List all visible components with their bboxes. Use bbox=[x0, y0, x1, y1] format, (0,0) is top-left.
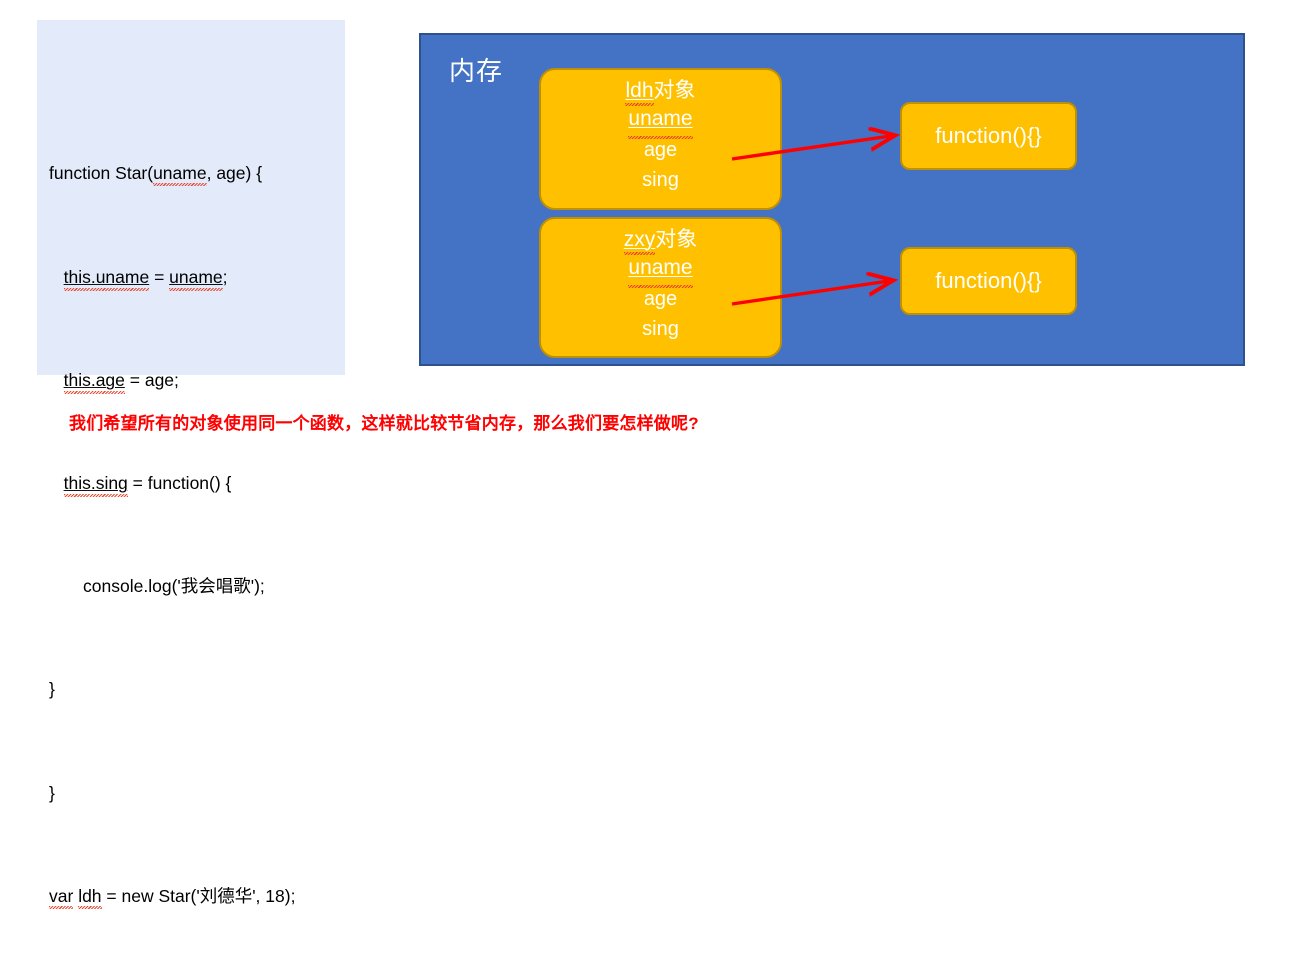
code-indent bbox=[49, 473, 64, 493]
object-field-row: sing bbox=[541, 314, 780, 344]
function-box-label: function(){} bbox=[935, 268, 1041, 294]
code-line-2: this.uname = uname; bbox=[49, 265, 298, 291]
object-field-row: uname bbox=[541, 252, 780, 284]
code-token-misspelled: this.age bbox=[64, 370, 125, 390]
code-indent bbox=[49, 576, 83, 596]
code-token: function Star( bbox=[49, 163, 153, 183]
function-box-1: function(){} bbox=[900, 102, 1077, 170]
code-token-misspelled: uname bbox=[153, 163, 207, 183]
object-field-row: uname bbox=[541, 103, 780, 135]
code-line-4: this.sing = function() { bbox=[49, 471, 298, 497]
code-indent bbox=[49, 370, 64, 390]
object-field-sing: sing bbox=[642, 165, 679, 195]
object-title-suffix: 对象 bbox=[655, 228, 697, 251]
object-field-uname: uname bbox=[628, 103, 692, 135]
object-title-prefix: ldh bbox=[625, 79, 653, 102]
code-token: ; bbox=[223, 267, 228, 287]
code-line-1: function Star(uname, age) { bbox=[49, 161, 298, 187]
code-line-7: } bbox=[49, 781, 298, 807]
object-box-ldh: ldh对象 uname age sing bbox=[539, 68, 782, 210]
function-box-2: function(){} bbox=[900, 247, 1077, 315]
code-token-misspelled: var bbox=[49, 886, 73, 906]
code-token: = age; bbox=[125, 370, 179, 390]
object-field-row: age bbox=[541, 284, 780, 314]
object-title-zxy: zxy对象 bbox=[624, 228, 698, 252]
memory-diagram: 内存 ldh对象 uname age sing zxy对象 uname age … bbox=[419, 33, 1245, 366]
code-indent bbox=[49, 267, 64, 287]
caption-text: 我们希望所有的对象使用同一个函数，这样就比较节省内存，那么我们要怎样做呢? bbox=[69, 409, 699, 434]
object-field-row: sing bbox=[541, 165, 780, 195]
object-field-uname: uname bbox=[628, 252, 692, 284]
code-token-misspelled: this.sing bbox=[64, 473, 128, 493]
object-title-row: zxy对象 bbox=[541, 219, 780, 252]
code-line-5: console.log('我会唱歌'); bbox=[49, 574, 298, 600]
code-token: , age) { bbox=[207, 163, 262, 183]
code-line-6: } bbox=[49, 677, 298, 703]
code-token: = function() { bbox=[128, 473, 232, 493]
memory-label: 内存 bbox=[449, 57, 503, 86]
code-token-misspelled: ldh bbox=[78, 886, 101, 906]
object-field-age: age bbox=[644, 284, 677, 314]
code-token: console.log('我会唱歌'); bbox=[83, 576, 265, 596]
code-token: = bbox=[149, 267, 169, 287]
object-title-row: ldh对象 bbox=[541, 70, 780, 103]
object-box-zxy: zxy对象 uname age sing bbox=[539, 217, 782, 358]
code-panel: function Star(uname, age) { this.uname =… bbox=[37, 20, 345, 375]
object-field-row: age bbox=[541, 135, 780, 165]
code-token-misspelled: uname bbox=[169, 267, 223, 287]
code-listing: function Star(uname, age) { this.uname =… bbox=[49, 84, 298, 976]
object-title-prefix: zxy bbox=[624, 228, 656, 251]
object-title-ldh: ldh对象 bbox=[625, 79, 695, 103]
function-box-label: function(){} bbox=[935, 123, 1041, 149]
object-field-sing: sing bbox=[642, 314, 679, 344]
code-line-8: var ldh = new Star('刘德华', 18); bbox=[49, 884, 298, 910]
code-token-misspelled: this.uname bbox=[64, 267, 150, 287]
object-field-age: age bbox=[644, 135, 677, 165]
code-line-3: this.age = age; bbox=[49, 368, 298, 394]
code-token: = new Star('刘德华', 18); bbox=[102, 886, 296, 906]
object-title-suffix: 对象 bbox=[654, 79, 696, 102]
